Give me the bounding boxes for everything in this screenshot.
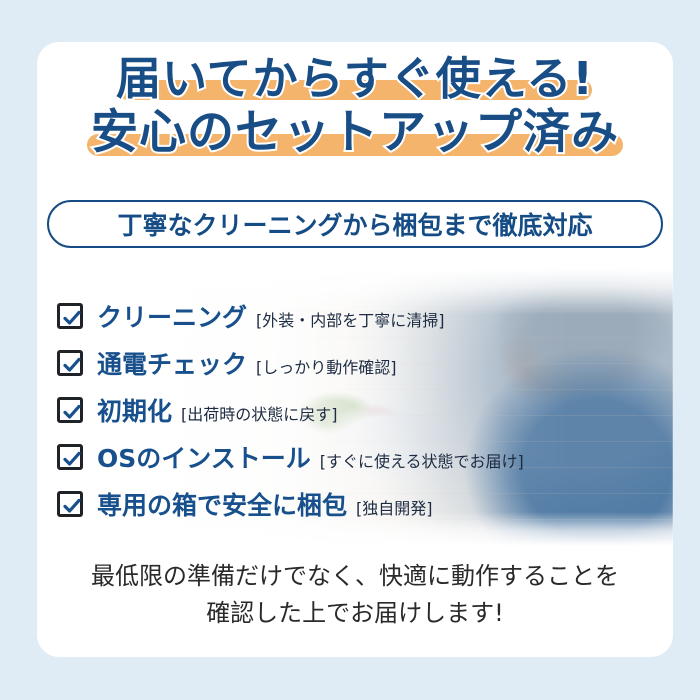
checkbox-checked-icon	[57, 303, 83, 329]
checkbox-checked-icon	[57, 397, 83, 423]
checklist-item-note: [外装・内部を丁寧に清掃]	[256, 307, 445, 331]
checklist-item-note: [独自開発]	[356, 495, 433, 519]
checklist-item-note: [すぐに使える状態でお届け]	[320, 448, 524, 472]
footer-line-2: 確認した上でお届けします!	[37, 595, 673, 632]
checklist-item-label: 専用の箱で安全に梱包	[97, 486, 347, 522]
checklist-item-label: クリーニング	[97, 298, 247, 334]
checklist: クリーニング [外装・内部を丁寧に清掃] 通電チェック [しっかり動作確認]	[57, 292, 657, 527]
banner-stage: 届いてからすぐ使える! 安心のセットアップ済み 丁寧なクリーニングから梱包まで徹…	[0, 0, 700, 700]
subtitle-pill: 丁寧なクリーニングから梱包まで徹底対応	[47, 200, 663, 248]
headline-block: 届いてからすぐ使える! 安心のセットアップ済み	[37, 56, 673, 156]
checklist-item-note: [しっかり動作確認]	[256, 354, 397, 378]
checklist-item-label: 初期化	[97, 392, 172, 428]
subtitle-text: 丁寧なクリーニングから梱包まで徹底対応	[117, 206, 592, 242]
list-item: 初期化 [出荷時の状態に戻す]	[57, 386, 657, 433]
footer-line-1: 最低限の準備だけでなく、快適に動作することを	[37, 558, 673, 595]
checkbox-checked-icon	[57, 444, 83, 470]
checklist-item-label: 通電チェック	[97, 345, 247, 381]
headline-line-1-text: 届いてからすぐ使える!	[116, 56, 594, 101]
footer-message: 最低限の準備だけでなく、快適に動作することを 確認した上でお届けします!	[37, 558, 673, 632]
list-item: クリーニング [外装・内部を丁寧に清掃]	[57, 292, 657, 339]
headline-line-2-text: 安心のセットアップ済み	[91, 109, 619, 156]
list-item: 通電チェック [しっかり動作確認]	[57, 339, 657, 386]
list-item: OSのインストール [すぐに使える状態でお届け]	[57, 433, 657, 480]
promo-card: 届いてからすぐ使える! 安心のセットアップ済み 丁寧なクリーニングから梱包まで徹…	[37, 42, 673, 657]
checkbox-checked-icon	[57, 491, 83, 517]
list-item: 専用の箱で安全に梱包 [独自開発]	[57, 480, 657, 527]
checklist-item-label: OSのインストール	[97, 439, 311, 475]
headline-line-1: 届いてからすぐ使える!	[116, 56, 594, 101]
checklist-item-note: [出荷時の状態に戻す]	[181, 401, 338, 425]
headline-line-2: 安心のセットアップ済み	[91, 109, 619, 156]
checkbox-checked-icon	[57, 350, 83, 376]
